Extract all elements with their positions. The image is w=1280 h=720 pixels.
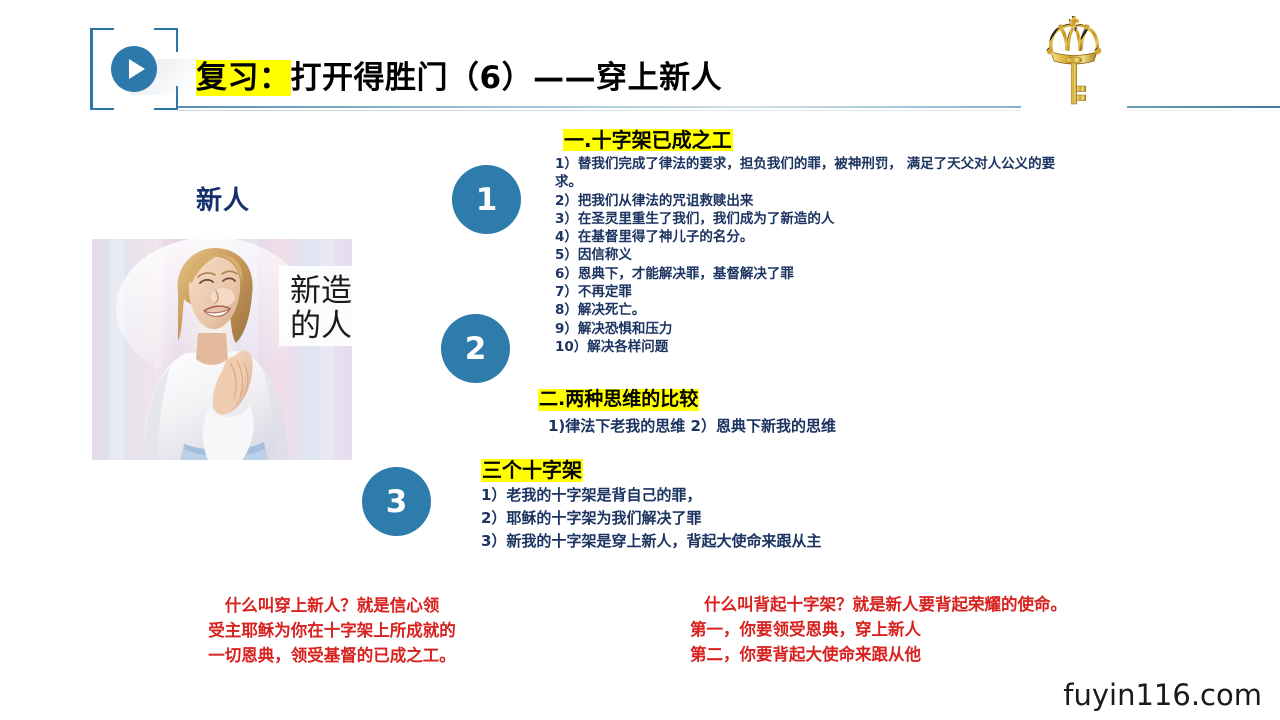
section-1-item-number: 2） bbox=[555, 193, 578, 209]
footer-note-left-line: 一切恩典，领受基督的已成之工。 bbox=[152, 643, 512, 668]
footer-note-right-line: 第一，你要领受恩典，穿上新人 bbox=[690, 617, 1067, 642]
footer-note-right: 什么叫背起十字架？就是新人要背起荣耀的使命。第一，你要领受恩典，穿上新人第二，你… bbox=[690, 592, 1067, 667]
section-1-item-number: 5） bbox=[555, 247, 578, 263]
section-3-item: 2）耶稣的十字架为我们解决了罪 bbox=[481, 507, 821, 530]
new-man-label: 新人 bbox=[196, 180, 250, 217]
section-1-list: 1）替我们完成了律法的要求，担负我们的罪，被神刑罚， 满足了天父对人公义的要求。… bbox=[555, 155, 1075, 356]
section-1-item-number: 9） bbox=[555, 321, 578, 337]
svg-text:新造: 新造 bbox=[290, 273, 352, 309]
play-button-frame[interactable] bbox=[90, 28, 178, 110]
footer-note-right-line: 第二，你要背起大使命来跟从他 bbox=[690, 642, 1067, 667]
section-1-item-number: 1） bbox=[555, 156, 578, 172]
section-1-item: 5）因信称义 bbox=[555, 246, 1075, 264]
section-2-line: 1)律法下老我的思维 2）恩典下新我的思维 bbox=[548, 415, 836, 436]
footer-note-left: 什么叫穿上新人？就是信心领受主耶稣为你在十字架上所成就的一切恩典，领受基督的已成… bbox=[152, 593, 512, 668]
page-title-highlight: 复习： bbox=[196, 60, 291, 96]
frame-corner-bottom-left bbox=[90, 86, 114, 110]
section-1-item-number: 4） bbox=[555, 229, 578, 245]
page-title: 复习：打开得胜门（6）——穿上新人 bbox=[196, 52, 722, 97]
section-1-item: 3）在圣灵里重生了我们，我们成为了新造的人 bbox=[555, 210, 1075, 228]
section-1-item: 2）把我们从律法的咒诅救赎出来 bbox=[555, 192, 1075, 210]
section-1-item-number: 6） bbox=[555, 266, 578, 282]
svg-text:的人: 的人 bbox=[290, 308, 352, 344]
section-1-item: 10）解决各样问题 bbox=[555, 338, 1075, 356]
section-1-item-text: 不再定罪 bbox=[578, 284, 632, 300]
footer-note-right-line: 什么叫背起十字架？就是新人要背起荣耀的使命。 bbox=[690, 592, 1067, 617]
section-1-item-text: 恩典下，才能解决罪，基督解决了罪 bbox=[578, 266, 794, 282]
marker-circle-1[interactable]: 1 bbox=[452, 165, 521, 234]
frame-corner-top-left bbox=[90, 28, 114, 52]
section-3-heading: 三个十字架 bbox=[481, 459, 583, 482]
section-1-item-text: 解决恐惧和压力 bbox=[578, 321, 673, 337]
section-1-item-text: 在基督里得了神儿子的名分。 bbox=[578, 229, 754, 245]
slide-canvas: 复习：打开得胜门（6）——穿上新人 bbox=[0, 0, 1280, 720]
section-1-item-text: 在圣灵里重生了我们，我们成为了新造的人 bbox=[578, 211, 835, 227]
section-3-item: 1）老我的十字架是背自己的罪， bbox=[481, 484, 821, 507]
section-1-heading: 一.十字架已成之工 bbox=[563, 129, 733, 151]
section-1-item-text: 因信称义 bbox=[578, 247, 632, 263]
section-1-item-text: 把我们从律法的咒诅救赎出来 bbox=[578, 193, 754, 209]
section-1-item-text: 解决各样问题 bbox=[587, 339, 668, 355]
section-1-item: 7）不再定罪 bbox=[555, 283, 1075, 301]
section-1-item: 6）恩典下，才能解决罪，基督解决了罪 bbox=[555, 265, 1075, 283]
section-3-item: 3）新我的十字架是穿上新人，背起大使命来跟从主 bbox=[481, 530, 821, 553]
woman-praying-photo: 新造 的人 bbox=[92, 239, 352, 460]
crown-key-icon bbox=[1021, 8, 1127, 112]
section-1-item-text: 解决死亡。 bbox=[578, 302, 646, 318]
frame-corner-top-right bbox=[154, 28, 178, 52]
marker-circle-3[interactable]: 3 bbox=[362, 467, 431, 536]
frame-corner-bottom-right bbox=[154, 86, 178, 110]
footer-note-left-line: 受主耶稣为你在十字架上所成就的 bbox=[152, 618, 512, 643]
section-1-item-number: 7） bbox=[555, 284, 578, 300]
section-1-item-text: 替我们完成了律法的要求，担负我们的罪，被神刑罚， 满足了天父对人公义的要求。 bbox=[555, 156, 1055, 190]
section-1-item: 8）解决死亡。 bbox=[555, 301, 1075, 319]
section-1-item: 1）替我们完成了律法的要求，担负我们的罪，被神刑罚， 满足了天父对人公义的要求。 bbox=[555, 155, 1075, 192]
section-1-item: 9）解决恐惧和压力 bbox=[555, 320, 1075, 338]
section-1-item: 4）在基督里得了神儿子的名分。 bbox=[555, 228, 1075, 246]
section-1-item-number: 10） bbox=[555, 339, 587, 355]
footer-note-left-line: 什么叫穿上新人？就是信心领 bbox=[152, 593, 512, 618]
watermark: fuyin116.com bbox=[1063, 678, 1262, 712]
play-button-icon[interactable] bbox=[111, 46, 157, 92]
section-2-heading: 二.两种思维的比较 bbox=[538, 389, 699, 411]
play-triangle-icon bbox=[129, 59, 145, 79]
marker-circle-2[interactable]: 2 bbox=[441, 314, 510, 383]
section-1-item-number: 8） bbox=[555, 302, 578, 318]
section-3-list: 1）老我的十字架是背自己的罪，2）耶稣的十字架为我们解决了罪3）新我的十字架是穿… bbox=[481, 484, 821, 553]
page-title-rest: 打开得胜门（6）——穿上新人 bbox=[291, 60, 723, 96]
section-1-item-number: 3） bbox=[555, 211, 578, 227]
